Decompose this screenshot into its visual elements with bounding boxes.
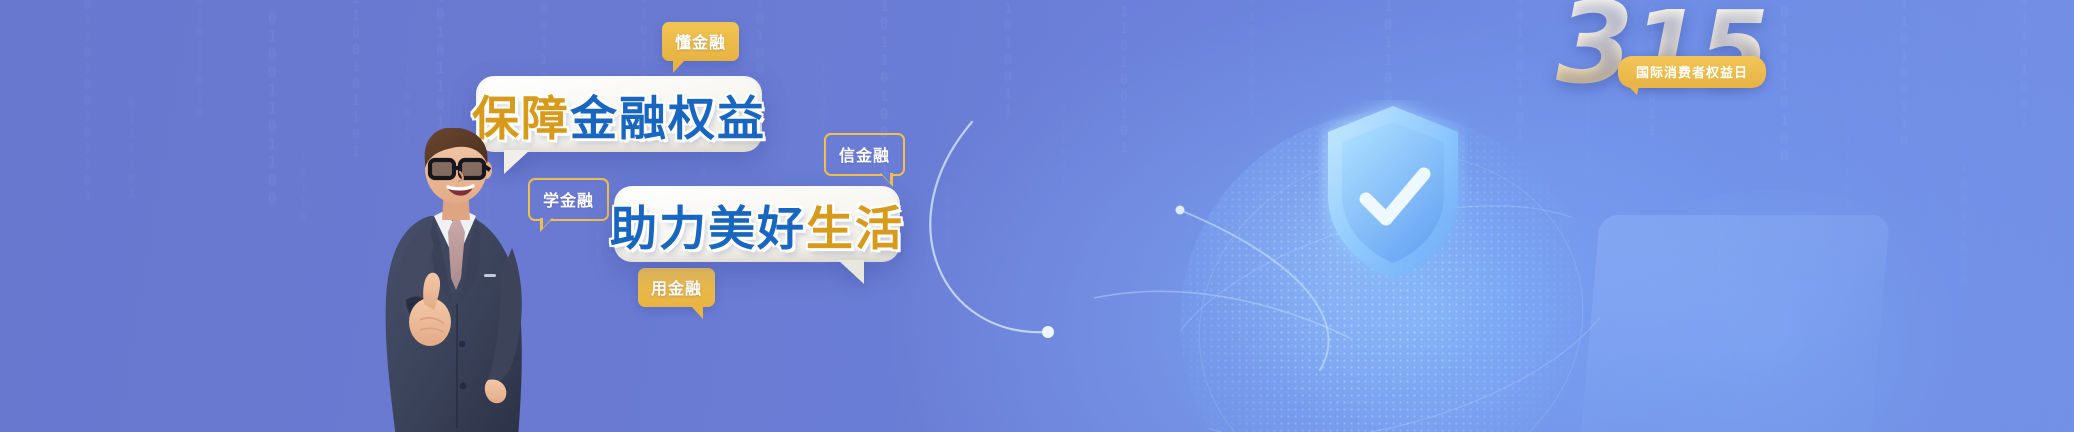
binary-column: 1 0 0 1 0 1 1 0 1 0 [196, 0, 204, 120]
binary-column: 1 0 0 1 1 0 1 0 [1960, 160, 1968, 288]
binary-column: 1 0 1 1 0 1 0 0 1 0 1 [1120, 0, 1129, 157]
tag-tail-inner [877, 173, 890, 183]
binary-column: 1 0 1 1 0 1 0 0 1 1 [1004, 0, 1013, 120]
tag-tail-inner [543, 218, 556, 228]
light-panel-decoration [1580, 215, 1890, 432]
tag-dong-jinrong[interactable]: 懂金融 [662, 22, 739, 61]
binary-column: 1 0 1 1 0 [300, 150, 308, 225]
headline-bubble-secondary: 助力美好生活 [614, 186, 900, 262]
shield-check-icon [1318, 100, 1468, 285]
headline-1-blue: 金融权益 [570, 80, 766, 149]
tag-tail [673, 60, 690, 73]
headline-2-text: 助力美好生活 [614, 186, 900, 262]
binary-column: 1 0 0 1 0 1 1 0 1 1 [1248, 0, 1256, 120]
tag-xue-jinrong[interactable]: 学金融 [528, 178, 609, 221]
binary-column: 0 1 1 0 1 0 1 [128, 96, 136, 201]
binary-column: 0 1 0 1 1 0 0 1 0 1 1 0 1 [352, 0, 361, 161]
headline-2-gold: 生活 [806, 190, 904, 259]
businessman-thumbs-up [372, 128, 540, 432]
promo-banner: 1 0 1 1 0 1 0 0 1 0 1 1 0 10 1 1 0 1 0 1… [0, 0, 2074, 432]
bubble-tail [824, 260, 864, 284]
binary-column: 1 0 1 1 0 1 [1844, 120, 1852, 210]
logo-315-digit-3: 3 [1556, 0, 1632, 109]
binary-column: 0 1 0 1 1 0 1 0 0 1 [2020, 0, 2029, 130]
logo-315-badge: 国际消费者权益日 [1618, 56, 1766, 88]
logo-315: 315 国际消费者权益日 [1556, 0, 1896, 104]
tag-tail [686, 306, 703, 319]
binary-column: 1 0 1 1 0 1 0 0 1 1 0 1 [1516, 0, 1525, 144]
tag-xin-jinrong[interactable]: 信金融 [824, 133, 905, 176]
binary-column: 0 1 0 0 1 1 0 1 1 0 0 [268, 10, 277, 208]
binary-column: 0 1 1 0 0 1 [1060, 100, 1068, 190]
headline-2-blue: 助力美好 [610, 190, 806, 259]
tag-xue-jinrong-label: 学金融 [543, 193, 594, 210]
binary-column: 1 0 1 1 0 1 0 0 1 0 1 1 0 1 [84, 0, 92, 204]
binary-column: 1 0 0 1 1 [944, 180, 952, 255]
tag-xin-jinrong-label: 信金融 [839, 148, 890, 165]
tag-yong-jinrong[interactable]: 用金融 [638, 268, 715, 307]
binary-column: 0 1 1 0 1 0 0 1 1 0 [1900, 0, 1909, 150]
tag-dong-jinrong-label: 懂金融 [675, 35, 726, 52]
logo-315-digits-15: 15 [1632, 0, 1767, 106]
tag-yong-jinrong-label: 用金融 [651, 281, 702, 298]
